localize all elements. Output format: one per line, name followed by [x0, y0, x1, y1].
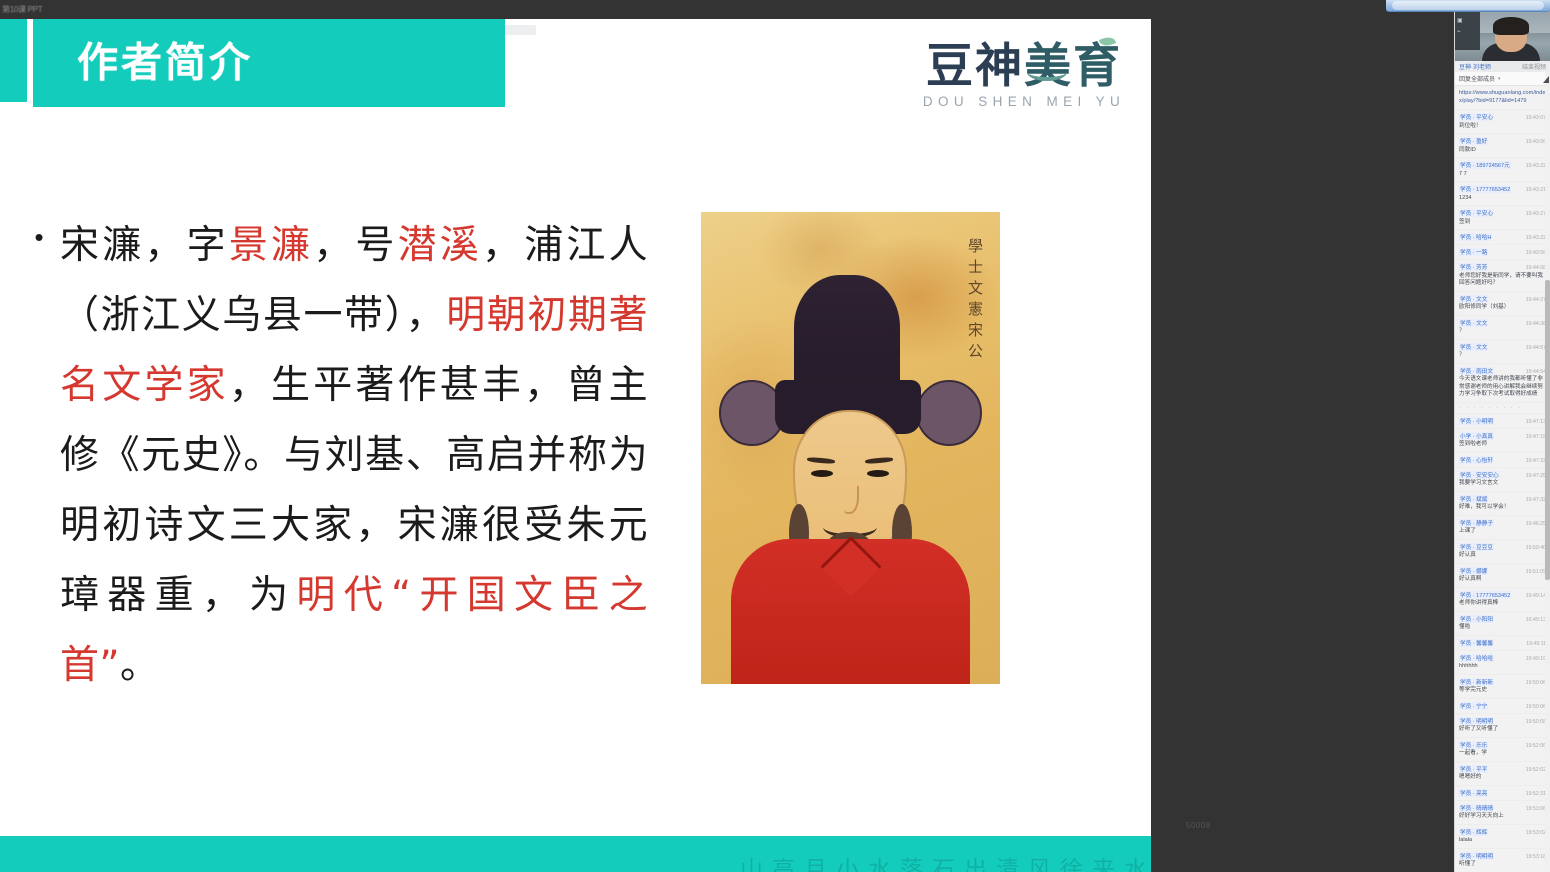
chat-message-text: 嗯嗯好的: [1459, 774, 1546, 782]
chat-reply-target: 回复全部成员: [1459, 74, 1495, 83]
video-participant-name: 豆神·刘老师: [1459, 62, 1491, 71]
chat-message-row[interactable]: 学员 · 芳芳19:44:08老师您好我是新同学，请不要叫我回答问题好吗？: [1455, 260, 1550, 292]
secondary-window-titlebar[interactable]: [1386, 0, 1550, 12]
chat-message-meta: 学员 · 明明明19:53:18: [1459, 852, 1546, 860]
slide-footer-bar: 山高月小水落石出清风徐来水波不兴: [0, 836, 1151, 872]
chat-sender-name: 学员 · 平安心: [1459, 209, 1494, 217]
chat-message-text: ？: [1459, 352, 1546, 360]
presentation-slide: 作者简介 豆神美育 DOU SHEN MEI YU • 宋濂，字景濂，号潜溪，浦…: [0, 19, 1151, 872]
chat-timestamp: 19:52:02: [1526, 767, 1546, 773]
chat-message-meta: 学员 · 文文19:44:57: [1459, 343, 1546, 351]
chat-message-meta: 学员 · 平安心19:43:07: [1459, 113, 1546, 121]
live-class-sidebar: ▣⌁ 豆神·刘老师 结束视频 回复全部成员 ▾ https://www.shug…: [1454, 0, 1550, 872]
chat-timestamp: 19:43:27: [1526, 211, 1546, 217]
chat-timestamp: 19:43:22: [1526, 235, 1546, 241]
chat-message-row[interactable]: 学员 · 189724567元19:43:227 7: [1455, 158, 1550, 182]
chat-message-row[interactable]: 学员 · 乐乐19:52:06一起看，学: [1455, 738, 1550, 762]
chat-message-text: 一起看，学: [1459, 750, 1546, 758]
chat-message-text: 今天语文课老师讲的我都听懂了非常感谢老师的用心讲解我会继续努力学习争取下次考试取…: [1459, 376, 1546, 399]
chat-message-text: 懂啦: [1459, 624, 1546, 632]
chat-sender-name: 学员 · 安安安心: [1459, 471, 1500, 479]
chat-message-meta: 学员 · 哈哈H19:43:22: [1459, 233, 1546, 241]
chat-sender-name: 学员 · 晴晴晴: [1459, 804, 1494, 812]
chat-sender-name: 学员 · 辉辉: [1459, 828, 1488, 836]
window-topbar: 第10课 PPT: [0, 0, 1455, 19]
chat-message-meta: 学员 · 明明明19:50:08: [1459, 717, 1546, 725]
chat-message-meta: 学员 · 娜娜19:51:09: [1459, 567, 1546, 575]
chat-message-meta: 学员 · 盈好19:43:06: [1459, 137, 1546, 145]
chat-message-text: 我要学习文言文: [1459, 480, 1546, 488]
chat-scrollbar-thumb[interactable]: [1545, 280, 1550, 580]
logo-chinese: 豆神美育: [919, 41, 1129, 90]
chat-message-row[interactable]: 学员 · 馨馨馨19:49:11: [1455, 636, 1550, 651]
chat-sender-name: 学员 · 盈好: [1459, 137, 1488, 145]
chat-message-text: 老师你讲得真棒: [1459, 600, 1546, 608]
chat-timestamp: 19:43:58: [1526, 250, 1546, 256]
chat-sender-name: 学员 · 静静子: [1459, 519, 1494, 527]
chat-message-row[interactable]: 学员 · 豆豆豆19:50:40好认真: [1455, 540, 1550, 564]
chat-message-meta: 学员 · 一路19:43:58: [1459, 248, 1546, 256]
chat-link[interactable]: https://www.shuguanlang.com/index/play/?…: [1455, 86, 1550, 110]
chat-sender-name: 学员 · 斌斌: [1459, 495, 1488, 503]
portrait-robe: [731, 539, 970, 684]
chat-message-row[interactable]: 学员 · 晴晴晴19:53:06好好学习天天向上: [1455, 801, 1550, 825]
chat-message-row[interactable]: 小学 · 小真真19:47:15签到啦老师: [1455, 429, 1550, 453]
chat-message-row[interactable]: 学员 · 1777765345219:43:211234: [1455, 182, 1550, 206]
chat-message-meta: 学员 · 平安心19:43:27: [1459, 209, 1546, 217]
chat-sender-name: 学员 · 189724567元: [1459, 161, 1511, 169]
chat-message-text: 好认真: [1459, 552, 1546, 560]
chat-message-meta: 学员 · 雨田文19:44:54: [1459, 367, 1546, 375]
collapse-arrow-icon[interactable]: [1543, 76, 1549, 83]
chat-message-row[interactable]: 学员 · 娜娜19:51:09好认真啊: [1455, 564, 1550, 588]
topbar-label: 第10课 PPT: [2, 4, 42, 15]
chat-timestamp: 19:47:22: [1526, 458, 1546, 464]
chat-separator-dots: · · · · · · · · ·: [1455, 403, 1550, 414]
portrait-canvas: 學士文憲宋公: [701, 212, 1000, 684]
chat-message-meta: 学员 · 亮亮19:52:31: [1459, 789, 1546, 797]
chat-message-meta: 学员 · 芳芳19:44:08: [1459, 263, 1546, 271]
chat-message-meta: 学员 · 宁宁19:50:06: [1459, 702, 1546, 710]
chat-sender-name: 学员 · 宁宁: [1459, 702, 1488, 710]
portrait-eye-left: [811, 470, 833, 477]
chat-timestamp: 19:44:08: [1526, 265, 1546, 271]
chat-timestamp: 19:46:25: [1526, 521, 1546, 527]
chat-sender-name: 学员 · 哈哈H: [1459, 233, 1492, 241]
chat-timestamp: 19:53:06: [1526, 806, 1546, 812]
chat-message-row[interactable]: 学员 · 小明明19:47:13: [1455, 414, 1550, 429]
chat-message-row[interactable]: 学员 · 平安心19:43:27签到: [1455, 206, 1550, 230]
chat-message-meta: 学员 · 豆豆豆19:50:40: [1459, 543, 1546, 551]
chat-message-row[interactable]: 学员 · 心怡轩19:47:22: [1455, 453, 1550, 468]
chat-timestamp: 19:50:40: [1526, 545, 1546, 551]
chat-sender-name: 学员 · 新新新: [1459, 678, 1494, 686]
chat-message-text: ？: [1459, 328, 1546, 336]
chat-message-row[interactable]: 学员 · 新新新19:50:06等学完元史: [1455, 675, 1550, 699]
chat-sender-name: 学员 · 乐乐: [1459, 741, 1488, 749]
chat-message-meta: 学员 · 新新新19:50:06: [1459, 678, 1546, 686]
para-seg-2: ，号: [313, 223, 397, 268]
title-banner: 作者简介: [33, 19, 505, 107]
chat-sender-name: 学员 · 平平: [1459, 765, 1488, 773]
chat-scrollbar[interactable]: [1545, 72, 1550, 872]
logo-chinese-part1: 豆神: [926, 39, 1024, 92]
chat-message-row[interactable]: 学员 · 文文19:44:38？: [1455, 316, 1550, 340]
end-video-button[interactable]: 结束视频: [1522, 62, 1546, 71]
chat-timestamp: 19:44:27: [1526, 297, 1546, 303]
chat-message-meta: 学员 · 文文19:44:38: [1459, 319, 1546, 327]
chat-sender-name: 学员 · 一路: [1459, 248, 1488, 256]
chat-message-text: 老师您好我是新同学，请不要叫我回答问题好吗？: [1459, 273, 1546, 288]
portrait-hat-wing-right: [916, 380, 982, 446]
video-toolbar-icons[interactable]: ▣⌁: [1457, 16, 1463, 38]
chat-message-meta: 学员 · 189724567元19:43:22: [1459, 161, 1546, 169]
chat-timestamp: 19:47:25: [1526, 473, 1546, 479]
chat-sender-name: 学员 · 明明明: [1459, 717, 1494, 725]
chat-message-text: 1234: [1459, 195, 1546, 203]
chat-message-text: 好认真啊: [1459, 576, 1546, 584]
portrait-collar: [820, 536, 881, 597]
video-person-hair: [1493, 17, 1529, 34]
chat-sender-name: 学员 · 文文: [1459, 319, 1488, 327]
portrait-brow-right: [865, 457, 893, 464]
chat-message-row[interactable]: 学员 · 哈哈哈19:49:19hhhhhh: [1455, 651, 1550, 675]
chat-timestamp: 19:43:21: [1526, 187, 1546, 193]
chat-timestamp: 19:47:32: [1526, 497, 1546, 503]
chat-sender-name: 学员 · 小明明: [1459, 417, 1494, 425]
chat-sender-name: 学员 · 芳芳: [1459, 263, 1488, 271]
chat-sender-name: 学员 · 娜娜: [1459, 567, 1488, 575]
portrait-nose: [844, 486, 859, 514]
chat-sender-name: 学员 · 哈哈哈: [1459, 654, 1494, 662]
chat-message-meta: 学员 · 心怡轩19:47:22: [1459, 456, 1546, 464]
chat-timestamp: 19:44:54: [1526, 369, 1546, 375]
chat-message-row[interactable]: 学员 · 雨田文19:44:54今天语文课老师讲的我都听懂了非常感谢老师的用心讲…: [1455, 364, 1550, 403]
chat-timestamp: 16:49:13: [1526, 617, 1546, 623]
chat-header[interactable]: 回复全部成员 ▾: [1455, 72, 1550, 86]
chat-timestamp: 19:49:14: [1526, 593, 1546, 599]
chat-message-meta: 学员 · 辉辉19:53:02: [1459, 828, 1546, 836]
chat-message-row[interactable]: 学员 · 1777765345219:49:14老师你讲得真棒: [1455, 588, 1550, 612]
chat-message-row[interactable]: 学员 · 宁宁19:50:06: [1455, 699, 1550, 714]
chat-sender-name: 学员 · 17777653452: [1459, 591, 1511, 599]
chat-message-text: 7 7: [1459, 171, 1546, 179]
chat-timestamp: 19:50:06: [1526, 680, 1546, 686]
chat-message-row[interactable]: 学员 · 安安安心19:47:25我要学习文言文: [1455, 468, 1550, 492]
para-seg-1: 宋濂，字: [60, 223, 229, 268]
chat-message-row[interactable]: 学员 · 文文19:44:27欧阳修同学（刘基）: [1455, 292, 1550, 316]
chat-timestamp: 19:49:11: [1526, 641, 1546, 647]
chat-message-row[interactable]: 学员 · 斌斌19:47:32好难，我可以学会！: [1455, 492, 1550, 516]
chat-timestamp: 19:44:38: [1526, 321, 1546, 327]
chat-message-meta: 学员 · 文文19:44:27: [1459, 295, 1546, 303]
chat-timestamp: 19:52:31: [1526, 791, 1546, 797]
logo-english: DOU SHEN MEI YU: [919, 94, 1129, 109]
para-seg-5: 。: [120, 643, 159, 688]
chat-message-row[interactable]: 学员 · 亮亮19:52:31: [1455, 786, 1550, 801]
para-highlight-2: 潜溪: [398, 223, 482, 268]
chat-message-row[interactable]: 学员 · 盈好19:43:06同款ID: [1455, 134, 1550, 158]
chat-message-row[interactable]: 学员 · 辉辉19:53:02lalala: [1455, 825, 1550, 849]
chevron-down-icon[interactable]: ▾: [1498, 76, 1501, 82]
portrait-brow-left: [807, 457, 835, 464]
chat-message-text: 好好学习天天向上: [1459, 813, 1546, 821]
chat-message-text: 好难，我可以学会！: [1459, 504, 1546, 512]
screen-root: 第10课 PPT 作者简介 豆神美育 DOU SHEN MEI YU • 宋濂，…: [0, 0, 1550, 872]
chat-timestamp: 19:52:06: [1526, 743, 1546, 749]
chat-sender-name: 学员 · 文文: [1459, 295, 1488, 303]
chat-timestamp: 19:47:15: [1526, 434, 1546, 440]
chat-message-text: hhhhhh: [1459, 663, 1546, 671]
chat-message-meta: 学员 · 晴晴晴19:53:06: [1459, 804, 1546, 812]
chat-timestamp: 19:49:19: [1526, 656, 1546, 662]
chat-sender-name: 学员 · 17777653452: [1459, 185, 1511, 193]
ghost-ui-pill: [505, 25, 536, 35]
page-title: 作者简介: [77, 43, 253, 84]
chat-timestamp: 19:43:06: [1526, 139, 1546, 145]
video-label-row: 豆神·刘老师 结束视频: [1455, 61, 1550, 72]
chat-message-row[interactable]: 学员 · 一路19:43:58: [1455, 245, 1550, 260]
title-accent-stub: [0, 19, 27, 102]
chat-message-row[interactable]: 学员 · 静静子19:46:25上课了: [1455, 516, 1550, 540]
chat-sender-name: 学员 · 豆豆豆: [1459, 543, 1494, 551]
bullet-item: • 宋濂，字景濂，号潜溪，浦江人（浙江义乌县一带），明朝初期著名文学家，生平著作…: [18, 211, 648, 701]
chat-message-text: 到位啦！: [1459, 123, 1546, 131]
chat-message-meta: 学员 · 静静子19:46:25: [1459, 519, 1546, 527]
chat-timestamp: 19:47:13: [1526, 419, 1546, 425]
chat-message-meta: 学员 · 1777765345219:43:21: [1459, 185, 1546, 193]
background-note-text: 50008: [1186, 821, 1211, 830]
bullet-marker: •: [18, 211, 60, 237]
slide-body: • 宋濂，字景濂，号潜溪，浦江人（浙江义乌县一带），明朝初期著名文学家，生平著作…: [18, 211, 648, 701]
chat-message-meta: 学员 · 乐乐19:52:06: [1459, 741, 1546, 749]
chat-message-text: 上课了: [1459, 528, 1546, 536]
chat-message-text: 签到: [1459, 219, 1546, 227]
chat-message-meta: 小学 · 小真真19:47:15: [1459, 432, 1546, 440]
chat-message-row[interactable]: 学员 · 小阳阳16:49:13懂啦: [1455, 612, 1550, 636]
chat-sender-name: 小学 · 小真真: [1459, 432, 1494, 440]
chat-sender-name: 学员 · 馨馨馨: [1459, 639, 1494, 647]
chat-sender-name: 学员 · 亮亮: [1459, 789, 1488, 797]
chat-message-row[interactable]: 学员 · 平安心19:43:07到位啦！: [1455, 110, 1550, 134]
chat-message-row[interactable]: 学员 · 平平19:52:02嗯嗯好的: [1455, 762, 1550, 786]
chat-timestamp: 19:51:09: [1526, 569, 1546, 575]
chat-message-row[interactable]: 学员 · 文文19:44:57？: [1455, 340, 1550, 364]
chat-message-meta: 学员 · 平平19:52:02: [1459, 765, 1546, 773]
chat-message-text: 同款ID: [1459, 147, 1546, 155]
chat-message-meta: 学员 · 小阳阳16:49:13: [1459, 615, 1546, 623]
chat-message-text: 好听了又听懂了: [1459, 726, 1546, 734]
chat-message-meta: 学员 · 小明明19:47:13: [1459, 417, 1546, 425]
chat-sender-name: 学员 · 小阳阳: [1459, 615, 1494, 623]
chat-timestamp: 19:44:57: [1526, 345, 1546, 351]
titlebar-inner: [1392, 1, 1544, 10]
chat-message-text: 欧阳修同学（刘基）: [1459, 304, 1546, 312]
chat-sender-name: 学员 · 雨田文: [1459, 367, 1494, 375]
chat-message-text: 签到啦老师: [1459, 441, 1546, 449]
chat-timestamp: 19:53:02: [1526, 830, 1546, 836]
chat-message-row[interactable]: 学员 · 明明明19:50:08好听了又听懂了: [1455, 714, 1550, 738]
chat-message-text: 等学完元史: [1459, 687, 1546, 695]
chat-message-row[interactable]: 学员 · 明明明19:53:18听懂了: [1455, 849, 1550, 872]
chat-message-list[interactable]: 学员 · 平安心19:43:07到位啦！学员 · 盈好19:43:06同款ID学…: [1455, 110, 1550, 872]
chat-timestamp: 19:43:07: [1526, 115, 1546, 121]
brand-logo: 豆神美育 DOU SHEN MEI YU: [919, 41, 1129, 109]
portrait-image: 學士文憲宋公: [701, 212, 1000, 684]
chat-timestamp: 19:50:06: [1526, 704, 1546, 710]
chat-message-meta: 学员 · 馨馨馨19:49:11: [1459, 639, 1546, 647]
chat-sender-name: 学员 · 明明明: [1459, 852, 1494, 860]
chat-message-meta: 学员 · 1777765345219:49:14: [1459, 591, 1546, 599]
chat-sender-name: 学员 · 文文: [1459, 343, 1488, 351]
chat-timestamp: 19:53:18: [1526, 854, 1546, 860]
para-highlight-1: 景濂: [229, 223, 313, 268]
chat-message-meta: 学员 · 斌斌19:47:32: [1459, 495, 1546, 503]
chat-timestamp: 19:50:08: [1526, 719, 1546, 725]
chat-message-text: lalala: [1459, 837, 1546, 845]
portrait-eye-right: [867, 470, 889, 477]
chat-sender-name: 学员 · 平安心: [1459, 113, 1494, 121]
chat-sender-name: 学员 · 心怡轩: [1459, 456, 1494, 464]
portrait-calligraphy: 學士文憲宋公: [965, 238, 987, 364]
chat-timestamp: 19:43:22: [1526, 163, 1546, 169]
chat-message-meta: 学员 · 哈哈哈19:49:19: [1459, 654, 1546, 662]
footer-calligraphy-watermark: 山高月小水落石出清风徐来水波不兴: [740, 850, 1151, 872]
chat-message-meta: 学员 · 安安安心19:47:25: [1459, 471, 1546, 479]
chat-message-row[interactable]: 学员 · 哈哈H19:43:22: [1455, 230, 1550, 245]
biography-paragraph: 宋濂，字景濂，号潜溪，浦江人（浙江义乌县一带），明朝初期著名文学家，生平著作甚丰…: [60, 211, 648, 701]
chat-message-text: 听懂了: [1459, 861, 1546, 869]
